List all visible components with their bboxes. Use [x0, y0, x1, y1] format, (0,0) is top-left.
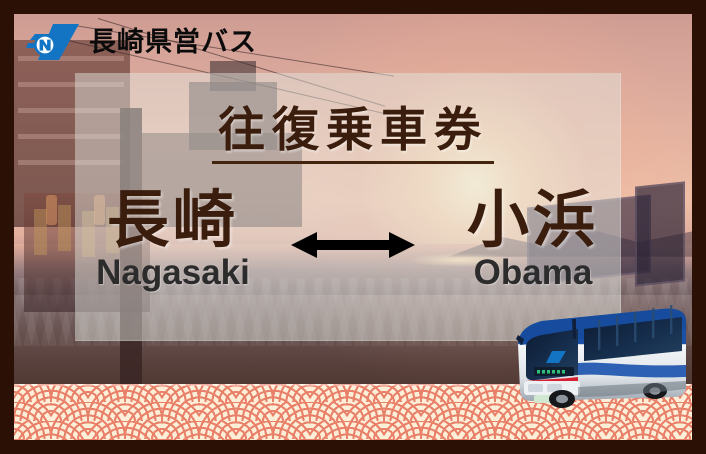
origin-romaji: Nagasaki	[57, 255, 289, 292]
ticket-title-block: 往復乗車券	[14, 106, 692, 164]
destination-romaji: Obama	[417, 255, 649, 292]
destination-station: 小浜 Obama	[417, 189, 649, 292]
double-headed-arrow-icon	[289, 227, 417, 263]
origin-station: 長崎 Nagasaki	[57, 189, 289, 292]
route-row: 長崎 Nagasaki 小浜 Obama	[14, 189, 692, 292]
round-trip-ticket: 長崎県営バス 往復乗車券 長崎 Nagasaki 小浜 Obama	[0, 0, 706, 454]
ticket-title: 往復乗車券	[212, 106, 494, 164]
destination-kanji: 小浜	[417, 189, 649, 253]
company-name: 長崎県営バス	[89, 29, 257, 56]
nagasaki-bus-logo-icon	[26, 22, 80, 62]
origin-kanji: 長崎	[57, 189, 289, 253]
highway-coach-bus-photo	[512, 305, 688, 410]
ticket-canvas: 長崎県営バス 往復乗車券 長崎 Nagasaki 小浜 Obama	[14, 14, 692, 440]
brand-header: 長崎県営バス	[26, 22, 257, 62]
